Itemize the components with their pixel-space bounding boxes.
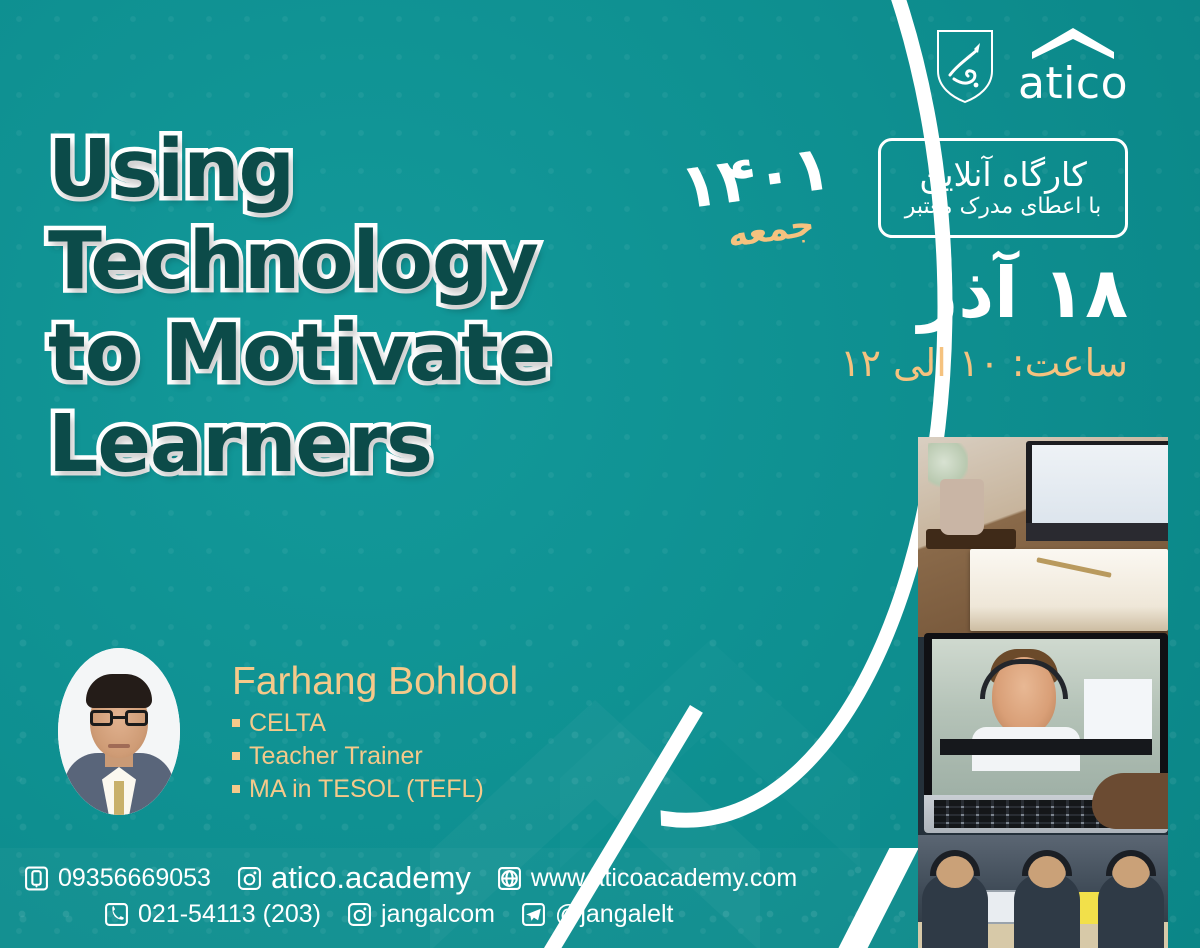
poster-title: Using Technology to Motivate Learners bbox=[48, 132, 708, 499]
event-time: ساعت: ۱۰ الی ۱۲ bbox=[840, 344, 1128, 382]
photo-classroom-scene bbox=[918, 835, 1168, 948]
contact-footer: 09356669053 atico.academy www.aticoacade… bbox=[0, 848, 918, 948]
photo-hand bbox=[1092, 773, 1168, 829]
contact-telephone[interactable]: 021-54113 (203) bbox=[104, 900, 321, 929]
photo-laptop-videocall bbox=[924, 633, 1168, 833]
contact-row-2: 021-54113 (203) jangalcom @jangalelt bbox=[104, 900, 673, 929]
credential-label: Teacher Trainer bbox=[249, 740, 423, 773]
telegram-icon bbox=[521, 902, 546, 927]
contact-row-1: 09356669053 atico.academy www.aticoacade… bbox=[24, 860, 797, 896]
title-line-1: Using bbox=[48, 132, 708, 208]
globe-icon bbox=[497, 866, 522, 891]
badge-line-1: کارگاه آنلاین bbox=[919, 158, 1087, 193]
photo-student-1 bbox=[922, 874, 988, 948]
photo-coffee-mug bbox=[940, 479, 984, 535]
presenter-name: Farhang Bohlool bbox=[232, 662, 518, 703]
title-line-4: Learners bbox=[48, 407, 708, 483]
contact-text: @jangalelt bbox=[555, 900, 674, 929]
photo-laptop-top-screen bbox=[1032, 445, 1168, 523]
instagram-icon bbox=[347, 902, 372, 927]
contact-mobile[interactable]: 09356669053 bbox=[24, 864, 211, 893]
online-learning-collage bbox=[918, 437, 1168, 948]
mobile-phone-icon bbox=[24, 866, 49, 891]
photo-student-2 bbox=[1014, 874, 1080, 948]
event-date: ۱۸ آذر bbox=[918, 258, 1128, 328]
contact-text: www.aticoacademy.com bbox=[531, 864, 797, 893]
atico-wordmark: atico bbox=[1018, 62, 1128, 106]
credential-label: MA in TESOL (TEFL) bbox=[249, 773, 484, 806]
photo-open-notebook bbox=[970, 549, 1168, 631]
badge-line-2: با اعطای مدرک معتبر bbox=[905, 195, 1101, 218]
poster-root: atico Using Technology to Motivate Learn… bbox=[0, 0, 1200, 948]
bullet-square-icon bbox=[232, 785, 240, 793]
credential-label: CELTA bbox=[249, 707, 326, 740]
photo-student-3 bbox=[1098, 874, 1164, 948]
atico-logo: atico bbox=[1018, 26, 1128, 106]
online-workshop-badge: کارگاه آنلاین با اعطای مدرک معتبر bbox=[878, 138, 1128, 238]
contact-website[interactable]: www.aticoacademy.com bbox=[497, 864, 797, 893]
atico-chevron-icon bbox=[1030, 26, 1116, 60]
presenter-glasses bbox=[90, 710, 148, 727]
title-line-2: Technology bbox=[48, 224, 708, 300]
title-line-3: to Motivate bbox=[48, 316, 708, 392]
bullet-square-icon bbox=[232, 719, 240, 727]
contact-text: 09356669053 bbox=[58, 864, 211, 893]
contact-text: 021-54113 (203) bbox=[138, 900, 321, 929]
presenter-info: Farhang Bohlool CELTA Teacher Trainer MA… bbox=[232, 662, 518, 806]
contact-text: jangalcom bbox=[381, 900, 495, 929]
telephone-icon bbox=[104, 902, 129, 927]
contact-instagram-atico[interactable]: atico.academy bbox=[237, 860, 471, 896]
photo-laptop-top-keyboard bbox=[1026, 523, 1168, 541]
photo-laptop-top bbox=[1026, 441, 1168, 541]
header-logos: atico bbox=[934, 26, 1128, 106]
bullet-square-icon bbox=[232, 752, 240, 760]
photo-videocall-toolbar bbox=[940, 739, 1152, 755]
photo-videocall-screen bbox=[932, 639, 1160, 795]
contact-telegram[interactable]: @jangalelt bbox=[521, 900, 674, 929]
jangal-shield-logo bbox=[934, 27, 996, 105]
presenter-credential-3: MA in TESOL (TEFL) bbox=[232, 773, 518, 806]
instagram-icon bbox=[237, 866, 262, 891]
contact-instagram-jangal[interactable]: jangalcom bbox=[347, 900, 495, 929]
presenter-credential-2: Teacher Trainer bbox=[232, 740, 518, 773]
contact-text: atico.academy bbox=[271, 860, 471, 896]
presenter-portrait bbox=[58, 648, 180, 815]
presenter-credential-1: CELTA bbox=[232, 707, 518, 740]
